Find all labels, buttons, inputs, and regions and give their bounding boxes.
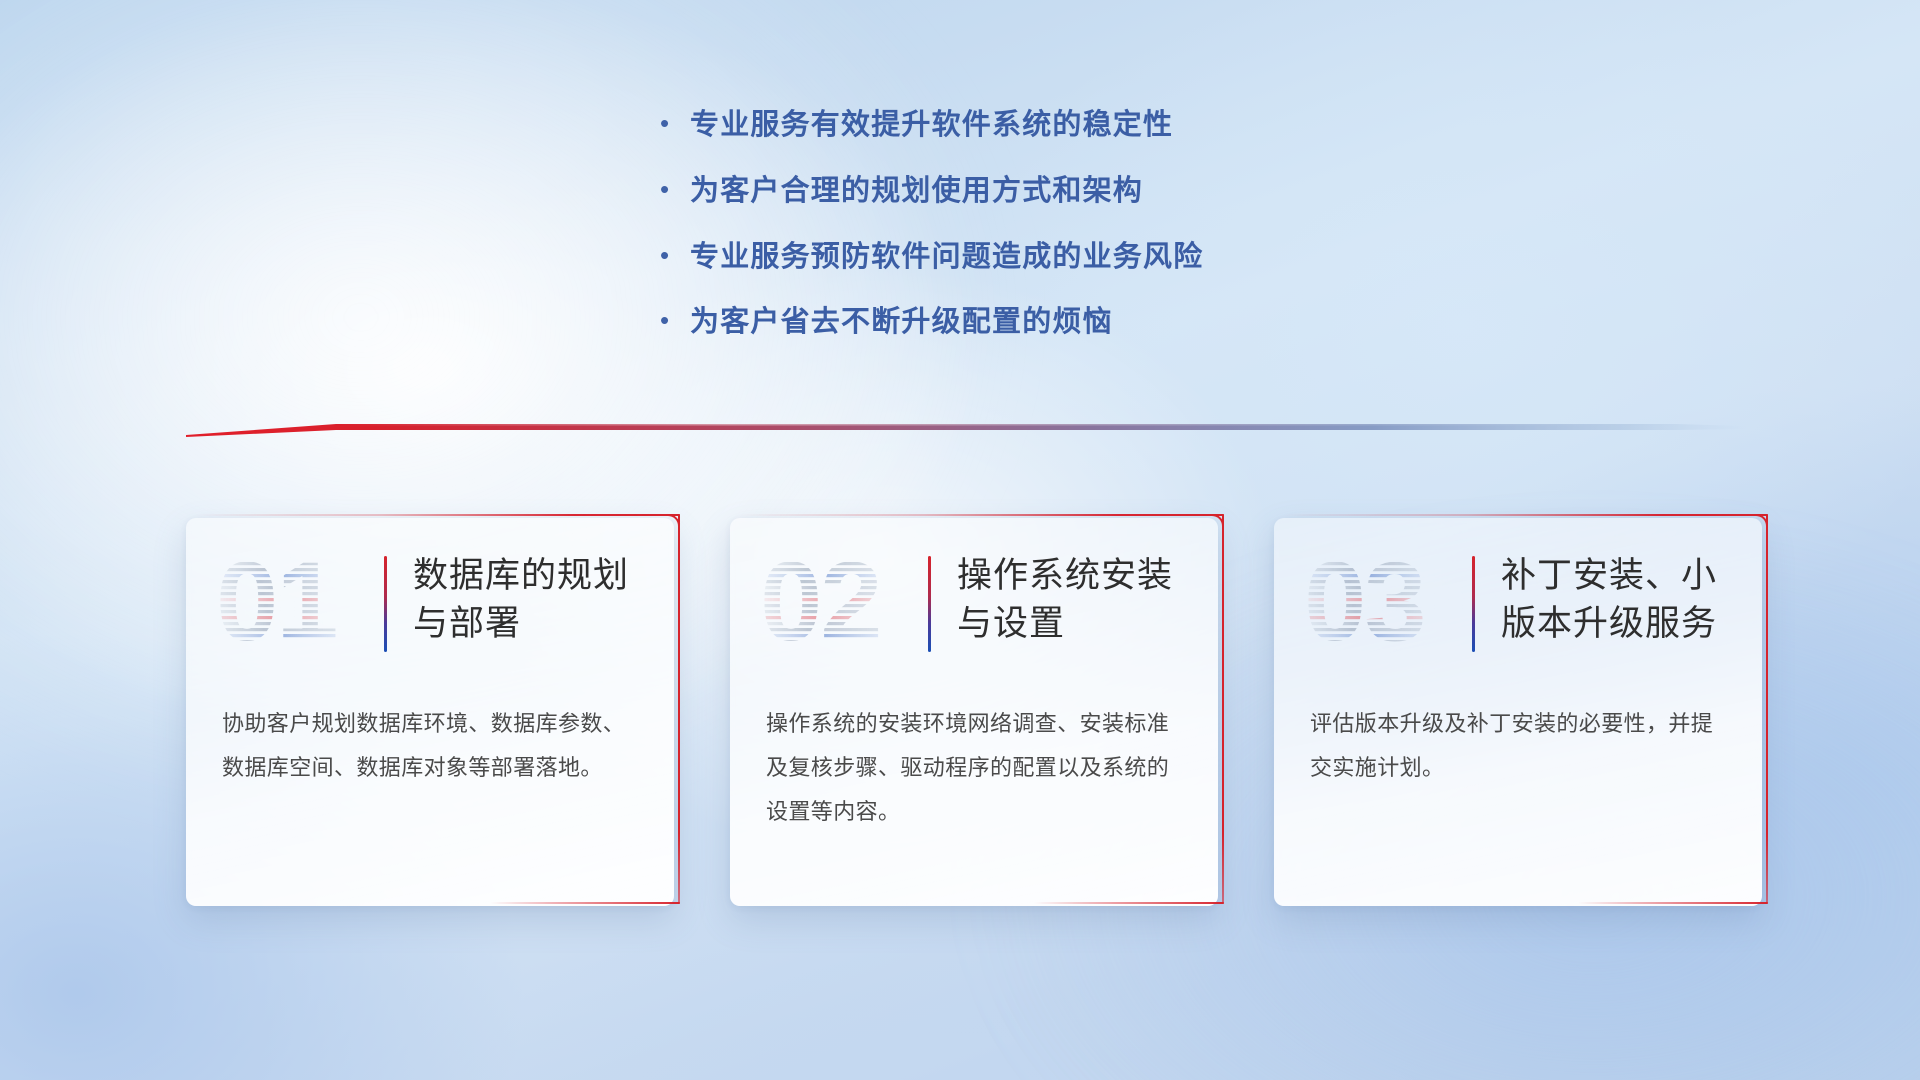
bullet-dot-icon: • (660, 307, 690, 333)
bullet-text-3: 专业服务预防软件问题造成的业务风险 (690, 240, 1203, 275)
bullet-dot-icon: • (660, 110, 690, 136)
card-header: 03 (1274, 518, 1762, 694)
card-title-block: 操作系统安装 与设置 (928, 552, 1202, 652)
list-item: • 为客户省去不断升级配置的烦恼 (660, 305, 1203, 340)
card-title-02: 操作系统安装 与设置 (957, 552, 1173, 647)
list-item: • 专业服务预防软件问题造成的业务风险 (660, 240, 1203, 275)
card-header: 01 (186, 518, 674, 694)
card-title-block: 数据库的规划 与部署 (384, 552, 658, 652)
bullet-dot-icon: • (660, 242, 690, 268)
service-card-02[interactable]: 02 (730, 518, 1218, 906)
section-divider (186, 418, 1746, 440)
card-header: 02 (730, 518, 1218, 694)
title-accent-rule (928, 556, 931, 652)
title-accent-rule (384, 556, 387, 652)
bullet-text-4: 为客户省去不断升级配置的烦恼 (690, 305, 1113, 340)
card-title-01: 数据库的规划 与部署 (413, 552, 629, 647)
card-number-watermark-01: 01 (210, 540, 360, 660)
service-card-03[interactable]: 03 (1274, 518, 1762, 906)
card-number-watermark-03: 03 (1298, 540, 1448, 660)
card-title-block: 补丁安装、小 版本升级服务 (1472, 552, 1746, 652)
title-accent-rule (1472, 556, 1475, 652)
bullet-text-1: 专业服务有效提升软件系统的稳定性 (690, 108, 1173, 143)
service-card-group: 01 (186, 518, 1762, 906)
list-item: • 为客户合理的规划使用方式和架构 (660, 174, 1203, 209)
card-body: 操作系统的安装环境网络调查、安装标准及复核步骤、驱动程序的配置以及系统的设置等内… (730, 702, 1218, 834)
card-number-watermark-02: 02 (754, 540, 904, 660)
card-body: 评估版本升级及补丁安装的必要性，并提交实施计划。 (1274, 702, 1762, 790)
card-description-03: 评估版本升级及补丁安装的必要性，并提交实施计划。 (1310, 702, 1728, 790)
card-body: 协助客户规划数据库环境、数据库参数、数据库空间、数据库对象等部署落地。 (186, 702, 674, 790)
benefits-bullet-list: • 专业服务有效提升软件系统的稳定性 • 为客户合理的规划使用方式和架构 • 专… (660, 108, 1203, 340)
bullet-dot-icon: • (660, 176, 690, 202)
card-description-01: 协助客户规划数据库环境、数据库参数、数据库空间、数据库对象等部署落地。 (222, 702, 640, 790)
card-title-03: 补丁安装、小 版本升级服务 (1501, 552, 1717, 647)
service-card-01[interactable]: 01 (186, 518, 674, 906)
slide-canvas: • 专业服务有效提升软件系统的稳定性 • 为客户合理的规划使用方式和架构 • 专… (0, 0, 1920, 1080)
card-description-02: 操作系统的安装环境网络调查、安装标准及复核步骤、驱动程序的配置以及系统的设置等内… (766, 702, 1184, 834)
bullet-text-2: 为客户合理的规划使用方式和架构 (690, 174, 1143, 209)
list-item: • 专业服务有效提升软件系统的稳定性 (660, 108, 1203, 143)
